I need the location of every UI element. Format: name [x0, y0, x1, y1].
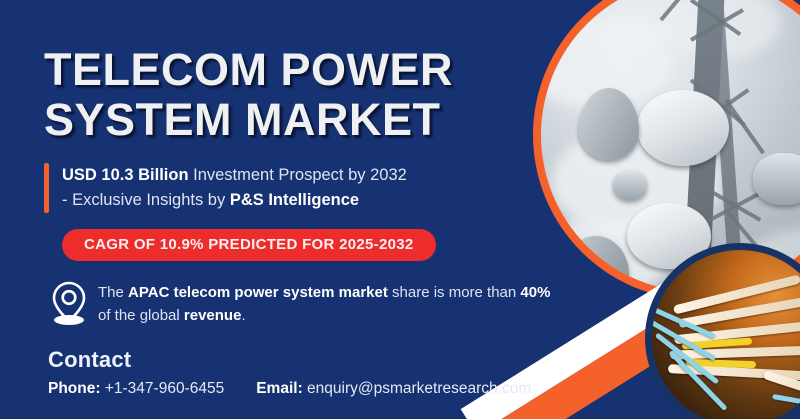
- subtitle-source: P&S Intelligence: [230, 191, 359, 209]
- email-label: Email:: [256, 380, 303, 397]
- contact-heading: Contact: [48, 347, 564, 373]
- location-pin-icon: [48, 280, 90, 331]
- contact-details-row: Phone: +1-347-960-6455 Email: enquiry@ps…: [48, 380, 564, 398]
- status-badge: CAGR OF 10.9% PREDICTED FOR 2025-2032: [62, 229, 436, 261]
- stat-mid2: of the global: [98, 307, 184, 324]
- subtitle-rest: Investment Prospect by 2032: [189, 166, 407, 184]
- banner-content: TELECOM POWER SYSTEM MARKET USD 10.3 Bil…: [44, 0, 564, 419]
- subtitle-block: USD 10.3 Billion Investment Prospect by …: [44, 163, 564, 213]
- stat-prefix: The: [98, 284, 128, 301]
- accent-bar: [44, 163, 49, 213]
- email-value: enquiry@psmarketresearch.com: [307, 380, 531, 397]
- stat-bold-revenue: revenue: [184, 307, 242, 324]
- stat-block: The APAC telecom power system market sha…: [48, 278, 564, 331]
- phone-label: Phone:: [48, 380, 101, 397]
- phone-entry[interactable]: Phone: +1-347-960-6455: [48, 380, 224, 398]
- stat-suffix: .: [241, 307, 245, 324]
- stat-mid: share is more than: [388, 284, 521, 301]
- subtitle-source-prefix: - Exclusive Insights by: [62, 191, 230, 209]
- stat-bold-region: APAC telecom power system market: [128, 284, 388, 301]
- email-entry[interactable]: Email: enquiry@psmarketresearch.com: [256, 380, 531, 398]
- fiber-photo-disc: [652, 250, 800, 419]
- stat-bold-share: 40%: [520, 284, 550, 301]
- market-report-banner: TELECOM POWER SYSTEM MARKET USD 10.3 Bil…: [0, 0, 800, 419]
- subtitle-text: USD 10.3 Billion Investment Prospect by …: [62, 163, 407, 213]
- subtitle-value: USD 10.3 Billion: [62, 166, 189, 184]
- page-title: TELECOM POWER SYSTEM MARKET: [44, 0, 564, 145]
- title-line-1: TELECOM POWER: [44, 44, 453, 95]
- title-line-2: SYSTEM MARKET: [44, 95, 564, 145]
- phone-value: +1-347-960-6455: [105, 380, 224, 397]
- stat-text: The APAC telecom power system market sha…: [98, 278, 564, 327]
